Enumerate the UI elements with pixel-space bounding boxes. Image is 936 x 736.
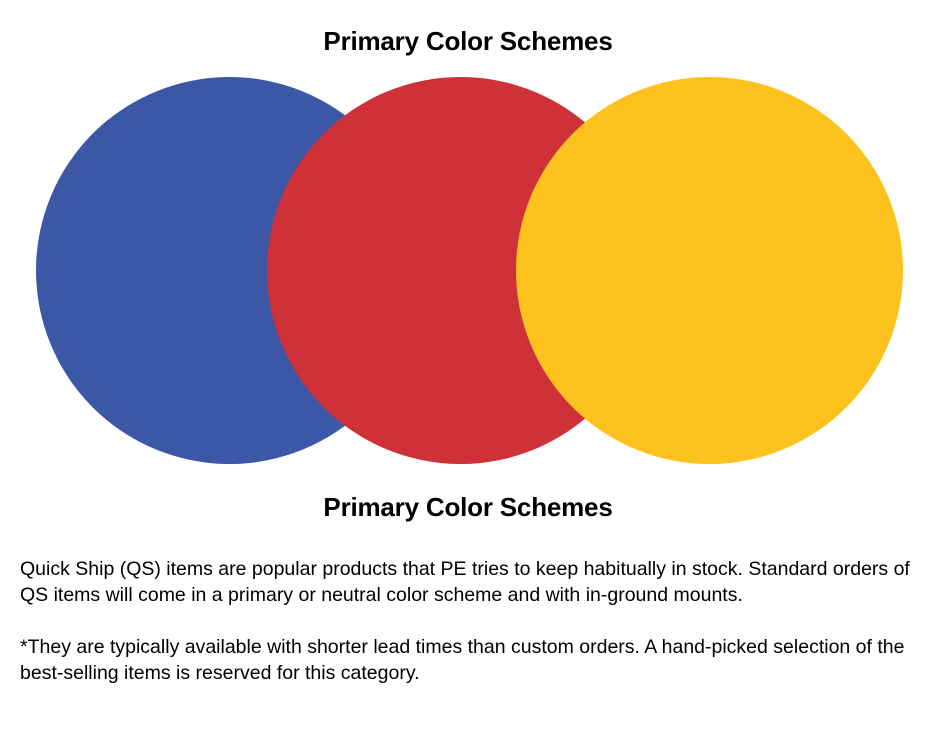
paragraph-lead-times-note: *They are typically available with short… bbox=[20, 634, 910, 686]
paragraph-quick-ship: Quick Ship (QS) items are popular produc… bbox=[20, 556, 910, 608]
page-title-bottom: Primary Color Schemes bbox=[0, 492, 936, 522]
body-copy: Quick Ship (QS) items are popular produc… bbox=[20, 556, 910, 686]
page-root: Primary Color Schemes Primary Color Sche… bbox=[0, 0, 936, 736]
yellow-circle bbox=[516, 77, 903, 464]
primary-color-schemes-venn bbox=[0, 0, 936, 480]
